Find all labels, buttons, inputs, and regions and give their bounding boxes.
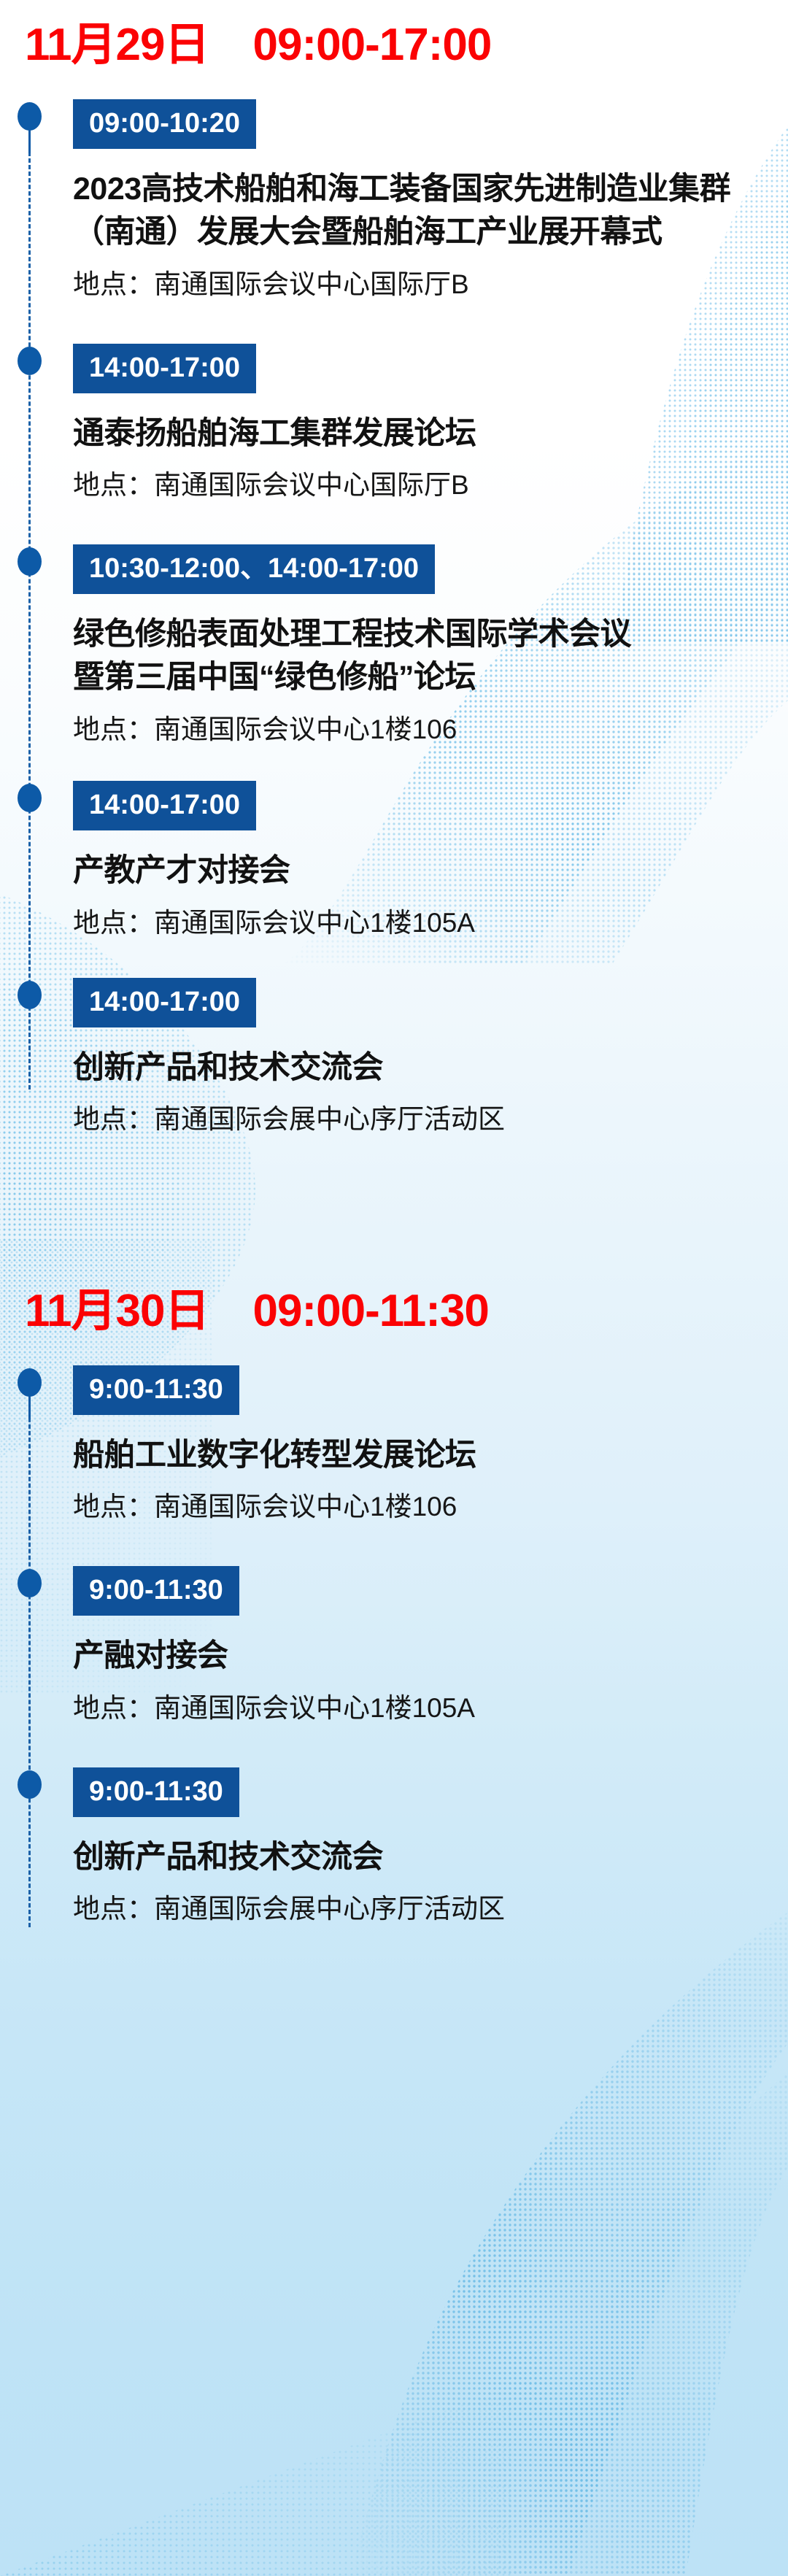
day-section-2: 11月30日 09:00-11:30 9:00-11:30 船舶工业数字化转型发… <box>0 1141 788 1927</box>
day-section-1: 11月29日 09:00-17:00 09:00-10:20 2023高技术船舶… <box>0 0 788 1141</box>
timeline-day-2: 9:00-11:30 船舶工业数字化转型发展论坛 地点：南通国际会议中心1楼10… <box>0 1365 788 1927</box>
event-title: 产融对接会 <box>73 1635 788 1678</box>
timeline-marker-dot <box>18 981 42 1009</box>
event-location: 地点：南通国际会议中心1楼105A <box>73 905 788 941</box>
event-title: 创新产品和技术交流会 <box>73 1836 788 1879</box>
timeline-marker-dot <box>18 784 42 812</box>
event-title: 船舶工业数字化转型发展论坛 <box>73 1434 788 1477</box>
event-title: 产教产才对接会 <box>73 849 788 892</box>
event-item[interactable]: 9:00-11:30 产融对接会 地点：南通国际会议中心1楼105A <box>0 1566 788 1726</box>
day-date-label: 11月29日 <box>25 7 209 73</box>
schedule-page: 11月29日 09:00-17:00 09:00-10:20 2023高技术船舶… <box>0 0 788 1927</box>
event-item[interactable]: 09:00-10:20 2023高技术船舶和海工装备国家先进制造业集群 （南通）… <box>0 99 788 303</box>
event-time-badge: 14:00-17:00 <box>73 978 256 1027</box>
event-location: 地点：南通国际会议中心国际厅B <box>73 467 788 504</box>
timeline-marker-dot <box>18 547 42 576</box>
event-time-badge: 9:00-11:30 <box>73 1365 239 1415</box>
dotted-wave-bottom-right <box>350 1912 788 2576</box>
day-header-1: 11月29日 09:00-17:00 <box>0 7 788 73</box>
event-time-badge: 09:00-10:20 <box>73 99 256 149</box>
event-title: 2023高技术船舶和海工装备国家先进制造业集群 （南通）发展大会暨船舶海工产业展… <box>73 168 788 255</box>
day-time-label: 09:00-17:00 <box>253 19 492 71</box>
event-item[interactable]: 9:00-11:30 船舶工业数字化转型发展论坛 地点：南通国际会议中心1楼10… <box>0 1365 788 1525</box>
event-time-badge: 14:00-17:00 <box>73 781 256 830</box>
timeline-marker-dot <box>18 1770 42 1799</box>
event-time-badge: 10:30-12:00、14:00-17:00 <box>73 544 435 594</box>
event-item[interactable]: 14:00-17:00 通泰扬船舶海工集群发展论坛 地点：南通国际会议中心国际厅… <box>0 344 788 504</box>
event-time-badge: 9:00-11:30 <box>73 1566 239 1616</box>
event-location: 地点：南通国际会议中心1楼105A <box>73 1690 788 1727</box>
event-item[interactable]: 14:00-17:00 创新产品和技术交流会 地点：南通国际会展中心序厅活动区 <box>0 978 788 1138</box>
timeline-marker-dot <box>18 347 42 375</box>
event-time-badge: 9:00-11:30 <box>73 1767 239 1817</box>
event-time-badge: 14:00-17:00 <box>73 344 256 393</box>
day-time-label: 09:00-11:30 <box>253 1285 489 1337</box>
dotted-wave-bottom-left <box>0 2299 511 2576</box>
event-item[interactable]: 14:00-17:00 产教产才对接会 地点：南通国际会议中心1楼105A <box>0 781 788 941</box>
timeline-marker-pin <box>18 1368 42 1397</box>
day-date-label: 11月30日 <box>25 1273 209 1339</box>
event-title: 绿色修船表面处理工程技术国际学术会议 暨第三届中国“绿色修船”论坛 <box>73 613 788 700</box>
day-header-2: 11月30日 09:00-11:30 <box>0 1273 788 1339</box>
event-location: 地点：南通国际会展中心序厅活动区 <box>73 1891 788 1927</box>
timeline-marker-dot <box>18 1569 42 1597</box>
event-location: 地点：南通国际会议中心国际厅B <box>73 266 788 303</box>
event-title: 通泰扬船舶海工集群发展论坛 <box>73 412 788 455</box>
event-location: 地点：南通国际会议中心1楼106 <box>73 712 788 748</box>
timeline-day-1: 09:00-10:20 2023高技术船舶和海工装备国家先进制造业集群 （南通）… <box>0 99 788 1141</box>
timeline-marker-pin <box>18 102 42 131</box>
event-location: 地点：南通国际会议中心1楼106 <box>73 1489 788 1525</box>
event-title: 创新产品和技术交流会 <box>73 1046 788 1090</box>
event-item[interactable]: 9:00-11:30 创新产品和技术交流会 地点：南通国际会展中心序厅活动区 <box>0 1767 788 1927</box>
event-item[interactable]: 10:30-12:00、14:00-17:00 绿色修船表面处理工程技术国际学术… <box>0 544 788 748</box>
event-location: 地点：南通国际会展中心序厅活动区 <box>73 1101 788 1138</box>
